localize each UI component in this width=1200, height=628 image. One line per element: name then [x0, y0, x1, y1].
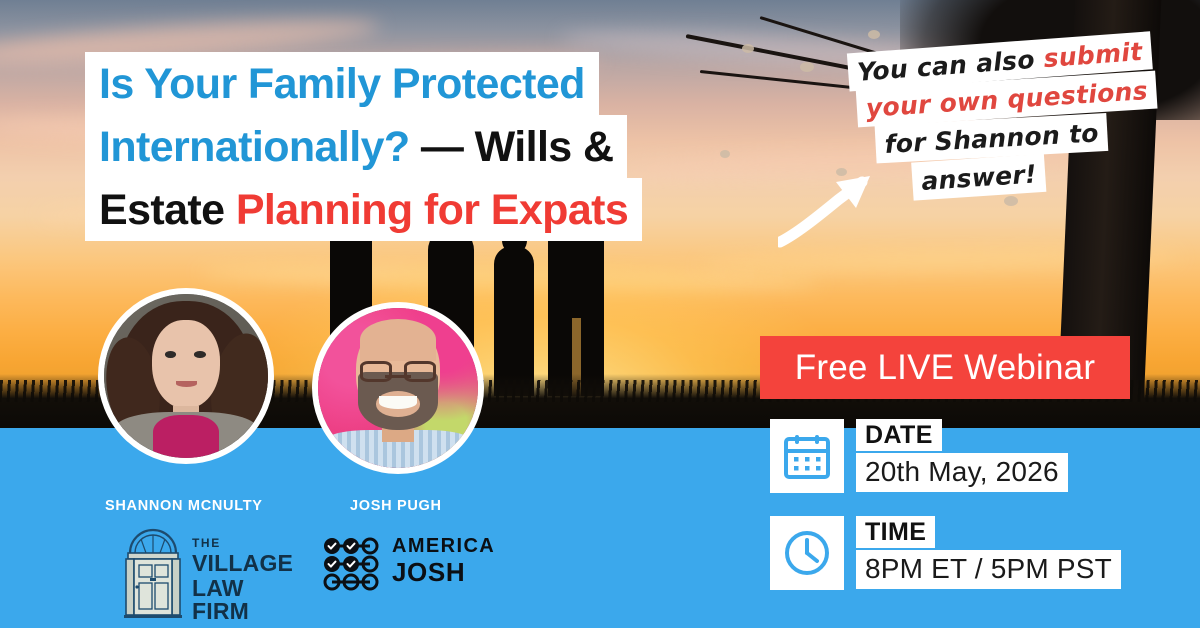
- logo-line-village: VILLAGE: [192, 552, 293, 575]
- time-row: TIME 8PM ET / 5PM PST: [770, 516, 1121, 590]
- page-title: Is Your Family Protected Internationally…: [85, 52, 735, 241]
- time-label: TIME: [856, 516, 935, 548]
- clock-icon: [770, 516, 844, 590]
- logo-line-law-firm: LAW FIRM: [192, 577, 293, 623]
- america-josh-wordmark: AMERICA JOSH: [392, 536, 495, 585]
- headline-line-3: Estate Planning for Expats: [85, 178, 642, 241]
- note-text-highlight: submit: [1043, 37, 1144, 73]
- blossom: [1004, 196, 1018, 206]
- avatar: [98, 288, 274, 464]
- blossom: [868, 30, 880, 39]
- headline-text-blue: Is Your Family Protected: [99, 60, 585, 108]
- date-value: 20th May, 2026: [856, 453, 1068, 492]
- village-door-icon: [122, 527, 184, 619]
- shannon-headshot: [104, 294, 268, 458]
- logo-line-the: THE: [192, 537, 293, 549]
- handwritten-note: You can also submit your own questions f…: [847, 31, 1167, 205]
- speaker-name-shannon: SHANNON MCNULTY: [105, 498, 263, 514]
- headline-text-blue: Internationally?: [99, 123, 421, 171]
- status-badge: Free LIVE Webinar: [760, 336, 1130, 399]
- america-josh-nodes-icon: [320, 536, 382, 592]
- headline-line-2: Internationally? — Wills &: [85, 115, 627, 178]
- josh-headshot: [318, 308, 478, 468]
- date-row: DATE 20th May, 2026: [770, 419, 1068, 493]
- village-law-firm-wordmark: THE VILLAGE LAW FIRM: [192, 537, 293, 623]
- date-label: DATE: [856, 419, 942, 451]
- headline-text-black: — Wills &: [421, 123, 614, 171]
- headline-text-black: Estate: [99, 186, 236, 234]
- america-josh-logo: AMERICA JOSH: [320, 534, 495, 594]
- time-labels: TIME 8PM ET / 5PM PST: [856, 516, 1121, 589]
- headline-text-red: Planning for Expats: [236, 186, 628, 234]
- blossom: [742, 44, 754, 53]
- speaker-name-josh: JOSH PUGH: [350, 498, 442, 514]
- date-labels: DATE 20th May, 2026: [856, 419, 1068, 492]
- logo-line-josh: JOSH: [392, 559, 495, 585]
- headline-line-1: Is Your Family Protected: [85, 52, 599, 115]
- webinar-promo-graphic: Is Your Family Protected Internationally…: [0, 0, 1200, 628]
- village-law-firm-logo: THE VILLAGE LAW FIRM: [122, 527, 267, 619]
- calendar-icon: [770, 419, 844, 493]
- avatar: [312, 302, 484, 474]
- logo-line-america: AMERICA: [392, 536, 495, 556]
- time-value: 8PM ET / 5PM PST: [856, 550, 1121, 589]
- blossom: [800, 62, 814, 72]
